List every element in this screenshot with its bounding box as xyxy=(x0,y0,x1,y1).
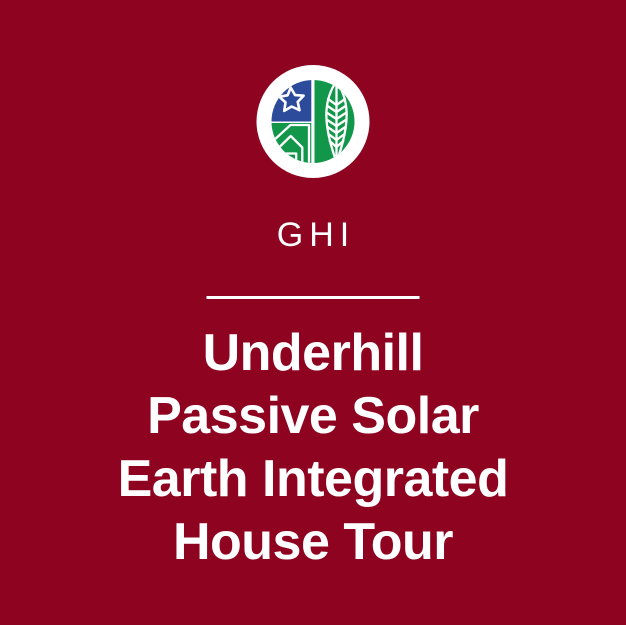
title-line-2: Passive Solar xyxy=(0,385,626,448)
title-line-1: Underhill xyxy=(0,322,626,385)
divider-rule xyxy=(207,296,420,299)
ghi-emblem-svg xyxy=(257,65,370,178)
poster-canvas: GHI Underhill Passive Solar Earth Integr… xyxy=(0,0,626,625)
organization-name: GHI xyxy=(0,214,626,256)
ghi-logo xyxy=(257,65,370,178)
page-title: Underhill Passive Solar Earth Integrated… xyxy=(0,322,626,574)
title-line-3: Earth Integrated xyxy=(0,448,626,511)
title-line-4: House Tour xyxy=(0,511,626,574)
